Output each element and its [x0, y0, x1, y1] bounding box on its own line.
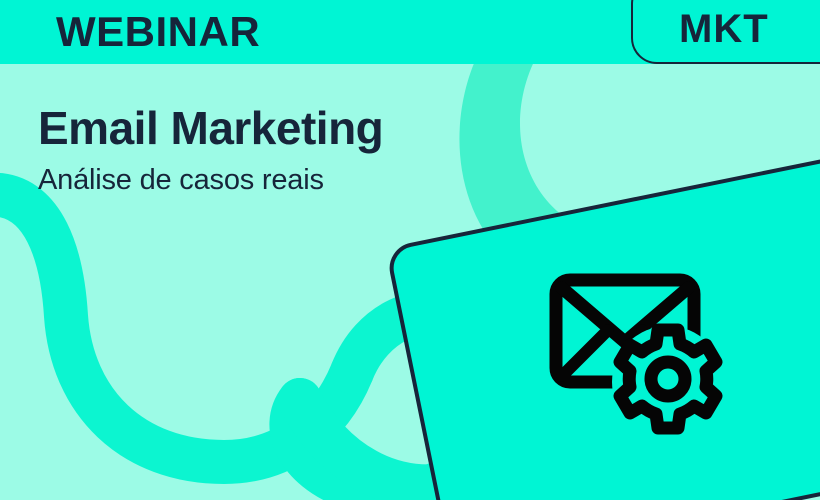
page-title: Email Marketing [38, 100, 383, 156]
banner-title: WEBINAR [56, 4, 260, 60]
page-subtitle: Análise de casos reais [38, 156, 383, 200]
category-badge[interactable]: MKT [631, 0, 820, 64]
headline-block: Email Marketing Análise de casos reais [38, 100, 383, 200]
envelope-fold-left-icon [562, 330, 608, 376]
category-badge-label: MKT [679, 2, 769, 56]
webinar-banner-graphic: WEBINAR MKT Email Marketing Análise de c… [0, 0, 820, 500]
envelope-gear-icon [546, 268, 726, 436]
